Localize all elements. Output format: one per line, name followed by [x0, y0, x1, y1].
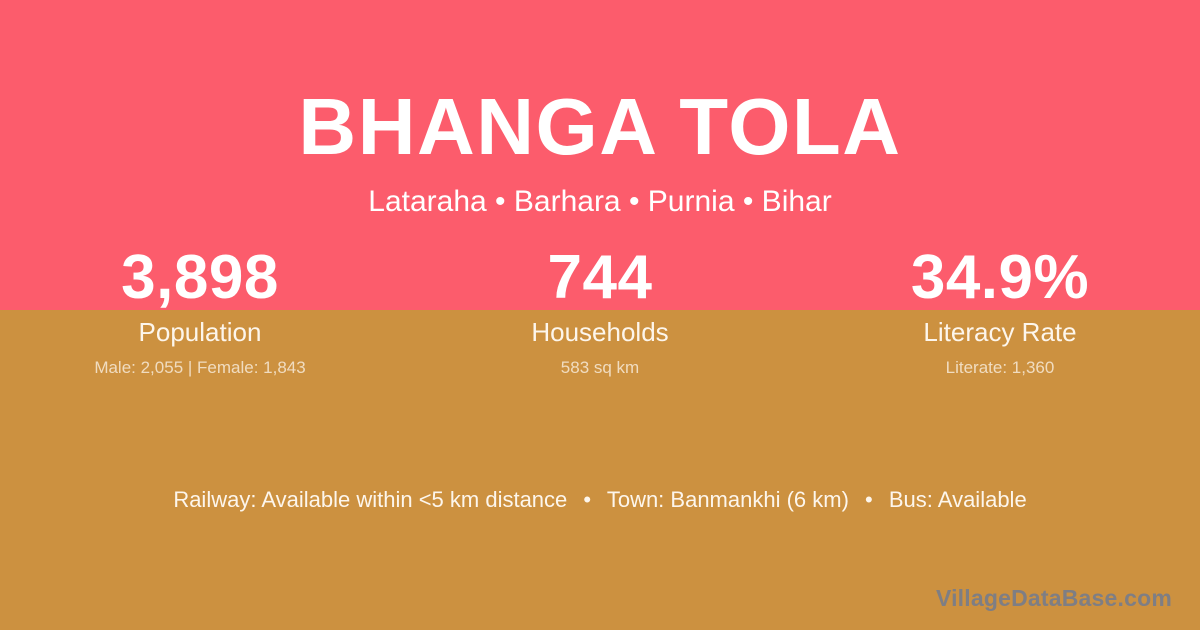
stat-label: Population: [0, 316, 400, 348]
site-brand-watermark: VillageDataBase.com: [936, 584, 1172, 612]
breadcrumb: Lataraha • Barhara • Purnia • Bihar: [0, 170, 1200, 220]
stat-label: Households: [400, 316, 800, 348]
stat-label: Literacy Rate: [800, 316, 1200, 348]
stats-row: 3,898 Population Male: 2,055 | Female: 1…: [0, 244, 1200, 379]
village-info-card: BHANGA TOLA Lataraha • Barhara • Purnia …: [0, 0, 1200, 630]
amenity-town: Town: Banmankhi (6 km): [607, 487, 849, 512]
stat-households: 744 Households 583 sq km: [400, 244, 800, 379]
page-title: BHANGA TOLA: [0, 0, 1200, 170]
amenity-railway: Railway: Available within <5 km distance: [173, 487, 567, 512]
amenity-separator-icon: •: [573, 487, 601, 512]
stat-detail: Male: 2,055 | Female: 1,843: [0, 357, 400, 379]
amenity-separator-icon: •: [855, 487, 883, 512]
amenities-line: Railway: Available within <5 km distance…: [0, 484, 1200, 516]
stat-value: 3,898: [0, 244, 400, 312]
stat-detail: 583 sq km: [400, 357, 800, 379]
amenity-bus: Bus: Available: [889, 487, 1027, 512]
stat-detail: Literate: 1,360: [800, 357, 1200, 379]
stat-literacy-rate: 34.9% Literacy Rate Literate: 1,360: [800, 244, 1200, 379]
header: BHANGA TOLA Lataraha • Barhara • Purnia …: [0, 0, 1200, 220]
stat-value: 744: [400, 244, 800, 312]
stat-value: 34.9%: [800, 244, 1200, 312]
stat-population: 3,898 Population Male: 2,055 | Female: 1…: [0, 244, 400, 379]
